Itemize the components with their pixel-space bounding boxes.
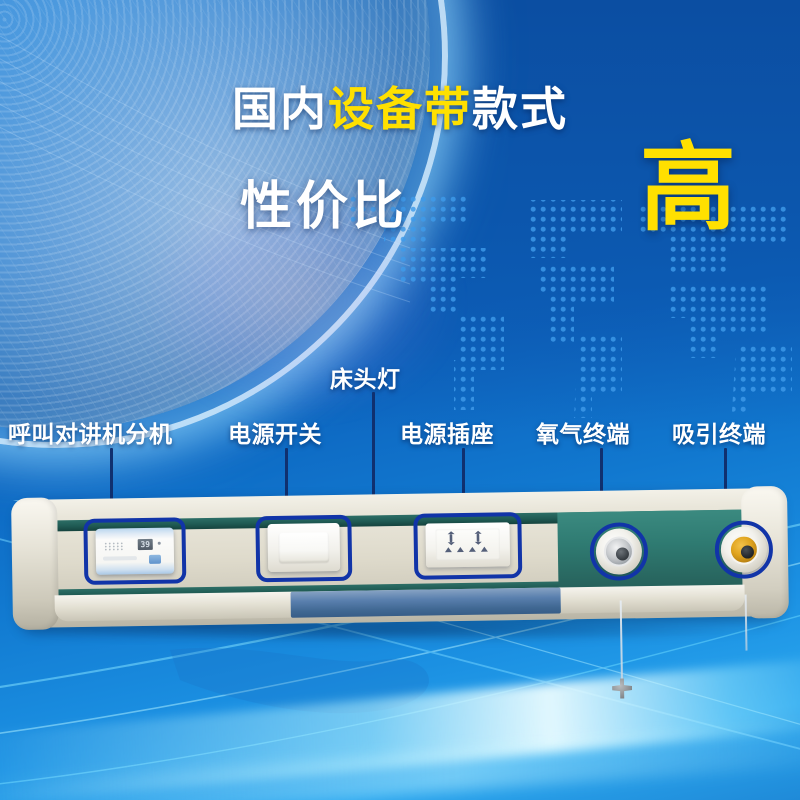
highlight-box-power-switch — [255, 515, 352, 582]
promo-banner: 国内设备带款式 性价比 高 呼叫对讲机分机 电源开关 床头灯 电源插座 氧气终端… — [0, 0, 800, 800]
panel-blue-lamp-diffuser — [291, 587, 561, 617]
callout-bed-lamp-label: 床头灯 — [330, 360, 401, 394]
panel-body: 39 — [17, 488, 783, 628]
bed-head-unit: 39 — [18, 494, 782, 644]
dotted-world-map — [340, 186, 800, 426]
callout-power-socket-label: 电源插座 — [400, 415, 494, 449]
panel-end-cap-left — [11, 497, 59, 630]
callout-power-switch-label: 电源开关 — [228, 415, 322, 449]
highlight-box-intercom — [83, 517, 186, 585]
oxygen-hanging-cord — [620, 601, 623, 685]
callout-intercom-label: 呼叫对讲机分机 — [8, 415, 173, 449]
highlight-box-power-socket — [413, 512, 522, 580]
callout-oxygen-terminal-label: 氧气终端 — [536, 415, 630, 449]
callout-suction-terminal-label: 吸引终端 — [672, 415, 766, 449]
